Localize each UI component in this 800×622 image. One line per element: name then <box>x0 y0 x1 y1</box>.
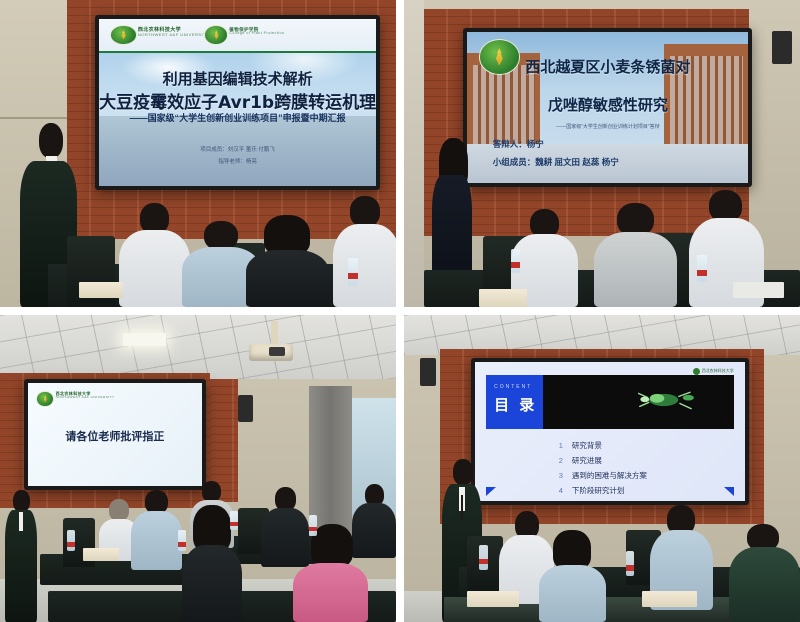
contents-item-number: 4 <box>559 486 563 495</box>
panel-top-left: 西北农林科技大学 NORTHWEST A&F UNIVERSITY 植物保护学院… <box>0 0 396 307</box>
water-bottle <box>178 530 186 551</box>
audience-head <box>709 190 742 221</box>
audience-head <box>350 196 380 227</box>
slide-surface: CONTENT 目 录 1 研究背景 2 研究进展 3 遇 <box>475 362 744 501</box>
panel-top-right: 西北越夏区小麦条锈菌对 戊唑醇敏感性研究 ——国家级“大学生创新创业训练计划项目… <box>404 0 800 307</box>
paper-document <box>479 289 527 307</box>
projector-lens <box>269 347 285 356</box>
northwest-a-and-f-university-logo <box>110 25 137 45</box>
ceiling-light <box>123 333 167 345</box>
contents-heading-en: CONTENT <box>494 384 532 390</box>
presenter-head <box>453 459 473 485</box>
audience-member <box>293 524 368 622</box>
audience-body <box>182 545 241 622</box>
audience-member <box>119 203 190 307</box>
college-logo-text: 植物保护学院 College of Plant Protection <box>229 28 284 37</box>
audience-head <box>109 499 129 521</box>
audience-head <box>617 203 654 236</box>
university-logo-text: 西北农林科技大学 NORTHWEST A&F UNIVERSITY <box>56 392 115 400</box>
university-logo-en: NORTHWEST A&F UNIVERSITY <box>56 396 115 399</box>
slide-credit-line-2: 指导老师：杨亮 <box>99 158 376 166</box>
notebook <box>733 282 784 297</box>
water-bottle <box>697 255 707 283</box>
university-logo-text: 西北农林科技大学 NORTHWEST A&F UNIVERSITY <box>138 28 209 38</box>
wall-speaker <box>238 395 254 423</box>
projection-screen-frame: 西北越夏区小麦条锈菌对 戊唑醇敏感性研究 ——国家级“大学生创新创业训练计划项目… <box>463 28 752 188</box>
side-wall <box>404 0 424 307</box>
contents-heading-cn: 目 录 <box>494 394 537 415</box>
slide-title-line-1: 利用基因编辑技术解析 <box>99 68 376 89</box>
paper-document <box>467 591 518 606</box>
insect-graphic <box>631 381 701 420</box>
ceiling <box>0 315 396 379</box>
water-bottle <box>626 551 635 576</box>
northwest-a-and-f-university-logo: 西北农林科技大学 <box>693 368 734 375</box>
corner-triangle-left <box>486 487 496 496</box>
audience-body <box>539 565 606 622</box>
paper-document <box>642 591 697 606</box>
water-bottle <box>348 258 358 286</box>
audience-body <box>729 547 800 622</box>
water-bottle <box>67 530 75 551</box>
water-bottle <box>479 545 488 570</box>
contents-item-label: 遇到的困难与解决方案 <box>572 470 647 481</box>
logo-label: 西北农林科技大学 <box>702 368 734 374</box>
audience-body <box>293 563 368 622</box>
slide-title-line-2: 大豆疫霉效应子Avr1b跨膜转运机理 <box>99 88 376 113</box>
water-bottle <box>230 511 238 529</box>
photo-collage: 西北农林科技大学 NORTHWEST A&F UNIVERSITY 植物保护学院… <box>0 0 800 622</box>
paper-document <box>83 548 119 560</box>
water-bottle <box>309 515 317 536</box>
wall-speaker <box>420 358 436 386</box>
presenter-tie <box>461 495 463 521</box>
audience-member <box>539 530 606 622</box>
audience-body <box>131 511 182 570</box>
contents-list-item: 4 下阶段研究计划 <box>559 485 647 496</box>
slide-surface: 西北农林科技大学 NORTHWEST A&F UNIVERSITY 植物保护学院… <box>99 19 376 186</box>
presenter-head <box>39 123 64 158</box>
contents-item-label: 研究进展 <box>572 455 602 466</box>
projection-screen-frame: 西北农林科技大学 NORTHWEST A&F UNIVERSITY 请各位老师批… <box>24 379 206 490</box>
contents-item-number: 1 <box>559 441 563 450</box>
corner-triangle-right <box>724 487 734 496</box>
college-logo-en: College of Plant Protection <box>229 33 284 36</box>
slide-subtitle: ——国家级“大学生创新创业训练计划项目”答辩 <box>467 123 748 130</box>
slide-members-line: 小组成员：魏耕 屈文田 赵蕊 杨宁 <box>493 156 749 168</box>
slide-surface: 西北越夏区小麦条锈菌对 戊唑醇敏感性研究 ——国家级“大学生创新创业训练计划项目… <box>467 32 748 184</box>
audience-member <box>729 524 800 622</box>
audience-member <box>333 196 396 307</box>
slide-credit-line-1: 项目成员：刘汉平 董乐 付鹏飞 <box>99 146 376 154</box>
projection-screen-frame: 西北农林科技大学 NORTHWEST A&F UNIVERSITY 植物保护学院… <box>95 15 380 190</box>
contents-list: 1 研究背景 2 研究进展 3 遇到的困难与解决方案 4 <box>559 440 647 500</box>
slide-title-line-1: 请各位老师批评指正 <box>28 428 202 444</box>
logo-mark <box>693 368 700 375</box>
audience-head <box>311 524 353 567</box>
contents-item-label: 研究背景 <box>572 440 602 451</box>
projection-screen-frame: CONTENT 目 录 1 研究背景 2 研究进展 3 遇 <box>471 358 748 505</box>
panel-bottom-left: 西北农林科技大学 NORTHWEST A&F UNIVERSITY 请各位老师批… <box>0 315 396 622</box>
slide-subtitle: ——国家级“大学生创新创业训练项目”申报暨中期汇报 <box>99 111 376 124</box>
audience-body <box>594 232 677 307</box>
slide-speaker-line: 答辩人：杨宁 <box>493 138 749 150</box>
contents-list-item: 1 研究背景 <box>559 440 647 451</box>
contents-item-label: 下阶段研究计划 <box>572 485 625 496</box>
presenter-collar <box>19 512 23 530</box>
northwest-a-and-f-university-logo <box>36 391 54 407</box>
audience-member <box>131 490 182 570</box>
audience-body <box>246 250 329 307</box>
slide-title-line-2: 戊唑醇敏感性研究 <box>467 94 748 115</box>
slide-divider <box>99 51 376 53</box>
panel-bottom-right: CONTENT 目 录 1 研究背景 2 研究进展 3 遇 <box>404 315 800 622</box>
paper-document <box>79 282 123 297</box>
audience-member <box>246 215 329 307</box>
slide-surface: 西北农林科技大学 NORTHWEST A&F UNIVERSITY 请各位老师批… <box>28 383 202 486</box>
audience-body <box>333 224 396 307</box>
university-logo-en: NORTHWEST A&F UNIVERSITY <box>138 33 209 37</box>
water-bottle <box>511 249 521 274</box>
contents-item-number: 2 <box>559 456 563 465</box>
contents-list-item: 3 遇到的困难与解决方案 <box>559 470 647 481</box>
audience-head <box>553 530 591 569</box>
slide-title-line-1: 西北越夏区小麦条锈菌对 <box>467 56 748 77</box>
audience-member <box>594 203 677 307</box>
wall-speaker <box>772 31 792 65</box>
college-of-plant-protection-logo <box>204 25 228 45</box>
contents-item-number: 3 <box>559 471 563 480</box>
contents-list-item: 2 研究进展 <box>559 455 647 466</box>
audience-head <box>204 221 237 250</box>
presenter <box>4 490 40 622</box>
audience-body <box>119 230 190 307</box>
